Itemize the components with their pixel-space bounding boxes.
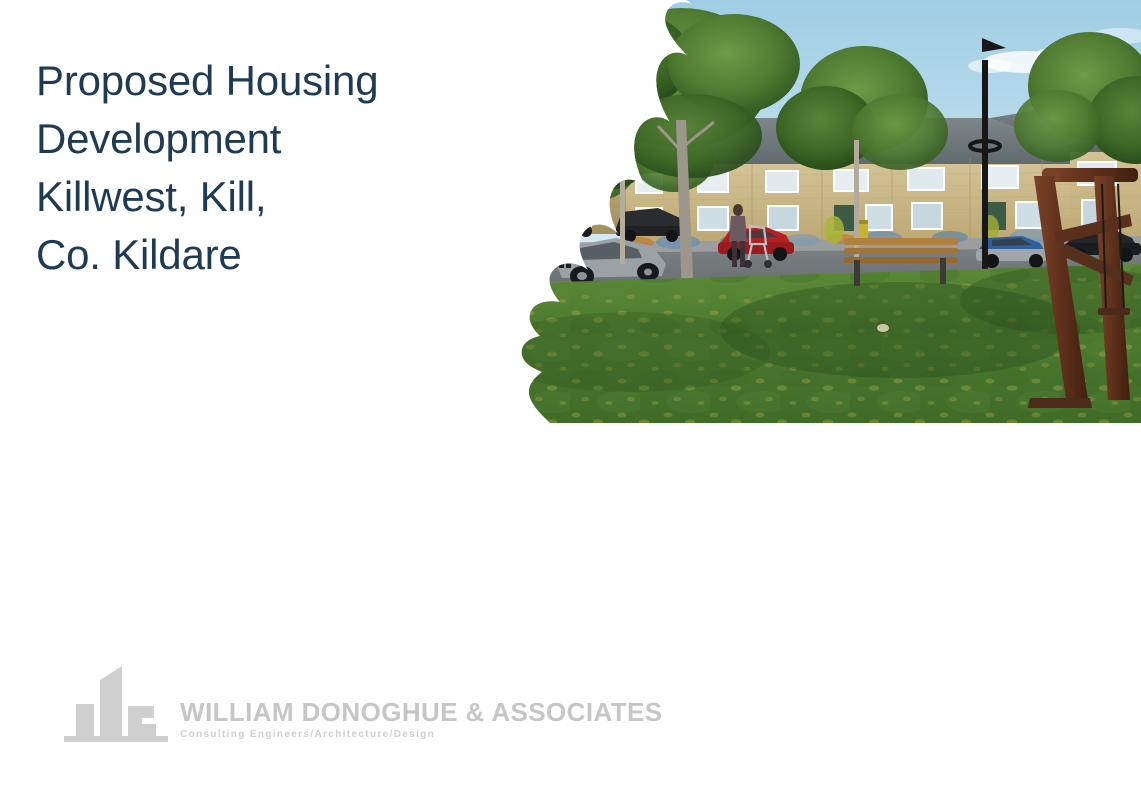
page-title: Proposed Housing Development Killwest, K…: [36, 52, 416, 284]
title-line-3: Killwest, Kill,: [36, 168, 416, 226]
title-line-1: Proposed Housing: [36, 52, 416, 110]
logo-text-block: WILLIAM DONOGHUE & ASSOCIATES Consulting…: [180, 698, 662, 748]
title-line-2: Development: [36, 110, 416, 168]
housing-development-rendering: [430, 0, 1141, 423]
title-line-4: Co. Kildare: [36, 226, 416, 284]
slide-canvas: Proposed Housing Development Killwest, K…: [0, 0, 1141, 804]
william-donoghue-building-mark: [64, 664, 168, 748]
company-logo: WILLIAM DONOGHUE & ASSOCIATES Consulting…: [64, 664, 662, 748]
hero-image: [430, 0, 1141, 423]
logo-company-name: WILLIAM DONOGHUE & ASSOCIATES: [180, 698, 662, 726]
logo-tagline: Consulting Engineers/Architecture/Design: [180, 728, 662, 742]
